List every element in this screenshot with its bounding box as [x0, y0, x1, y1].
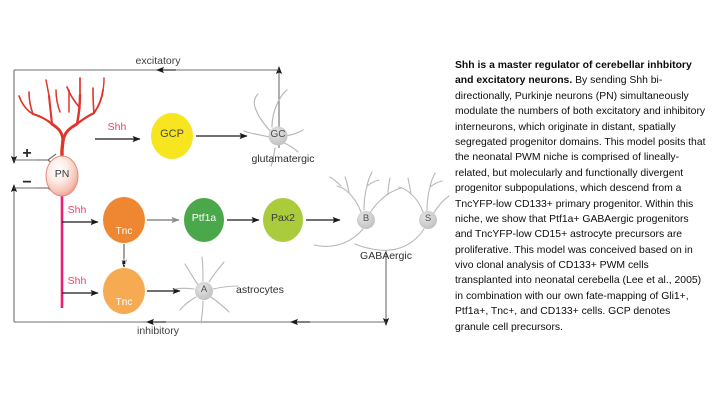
purkinje-neuron — [19, 78, 104, 308]
node-gcp — [151, 113, 193, 159]
node-ptf1a — [184, 198, 224, 242]
caption-body: By sending Shh bi-directionally, Purkinj… — [455, 75, 705, 332]
excitatory-feedback-loop — [14, 70, 279, 160]
astrocyte-cell — [175, 257, 238, 323]
node-tnc-cd133 — [103, 197, 145, 243]
node-tnc-cd15 — [103, 268, 145, 314]
signaling-diagram: excitatory inhibitory + − Shh Shh Shh PN… — [0, 0, 450, 405]
granule-cell — [244, 90, 303, 166]
figure-root: excitatory inhibitory + − Shh Shh Shh PN… — [0, 0, 720, 405]
figure-caption: Shh is a master regulator of cerebellar … — [455, 58, 707, 335]
node-pax2 — [263, 198, 303, 242]
gabaergic-interneurons — [314, 172, 449, 250]
